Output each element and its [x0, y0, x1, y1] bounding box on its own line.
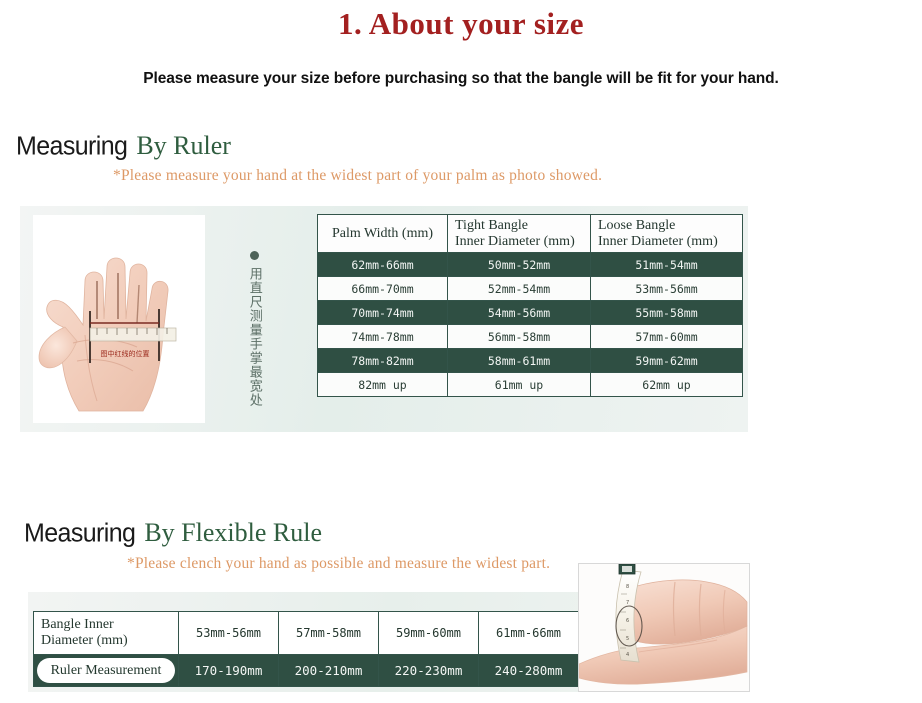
section2-heading-prefix: Measuring	[24, 518, 135, 548]
table1-header-tight-line1: Tight Bangle	[455, 218, 586, 234]
table2-row1-label-line2: Diameter (mm)	[41, 633, 177, 649]
section1-note: *Please measure your hand at the widest …	[113, 167, 602, 185]
table-row: Ruler Measurement 170-190mm 200-210mm 22…	[34, 655, 579, 687]
vertical-chinese-caption: 用直尺测量手掌最宽处	[241, 251, 267, 407]
table1-body: Palm Width (mm) Tight Bangle Inner Diame…	[318, 215, 743, 397]
table1-header-tight-bangle: Tight Bangle Inner Diameter (mm)	[448, 215, 591, 253]
cell-tight-diameter: 50mm-52mm	[448, 253, 591, 277]
section1-heading-prefix: Measuring	[16, 131, 127, 161]
page-title: 1. About your size	[0, 6, 922, 42]
table-row: 74mm-78mm 56mm-58mm 57mm-60mm	[318, 325, 743, 349]
photo-caption-text: 图中红线的位置	[101, 349, 150, 358]
cell-loose-diameter: 53mm-56mm	[591, 277, 743, 301]
cell-palm-width: 82mm up	[318, 373, 448, 397]
table-row: Bangle Inner Diameter (mm) 53mm-56mm 57m…	[34, 612, 579, 655]
page-subtitle: Please measure your size before purchasi…	[0, 70, 922, 88]
table-row: 62mm-66mm 50mm-52mm 51mm-54mm	[318, 253, 743, 277]
cell-bangle-diameter: 61mm-66mm	[479, 612, 579, 655]
cell-bangle-diameter: 59mm-60mm	[379, 612, 479, 655]
palm-hand-illustration: 图中红线的位置	[33, 215, 205, 423]
svg-text:6: 6	[626, 618, 629, 624]
table2-body: Bangle Inner Diameter (mm) 53mm-56mm 57m…	[34, 612, 579, 687]
table1-header-row: Palm Width (mm) Tight Bangle Inner Diame…	[318, 215, 743, 253]
clenched-hand-tape-photo: 8 7 6 5 4	[578, 563, 750, 692]
palm-measure-photo: 图中红线的位置	[33, 215, 205, 423]
cell-tight-diameter: 56mm-58mm	[448, 325, 591, 349]
vertical-caption-text: 用直尺测量手掌最宽处	[246, 267, 262, 407]
table-row: 82mm up 61mm up 62mm up	[318, 373, 743, 397]
clenched-hand-illustration: 8 7 6 5 4	[579, 564, 749, 691]
table1-header-tight-line2: Inner Diameter (mm)	[455, 234, 586, 250]
table-row: 70mm-74mm 54mm-56mm 55mm-58mm	[318, 301, 743, 325]
cell-palm-width: 62mm-66mm	[318, 253, 448, 277]
section2-note: *Please clench your hand as possible and…	[127, 555, 550, 573]
table1-header-palm-width: Palm Width (mm)	[318, 215, 448, 253]
cell-ruler-measurement: 240-280mm	[479, 655, 579, 687]
cell-palm-width: 74mm-78mm	[318, 325, 448, 349]
table2-row2-label: Ruler Measurement	[34, 655, 179, 687]
cell-bangle-diameter: 53mm-56mm	[179, 612, 279, 655]
table1-header-loose-line2: Inner Diameter (mm)	[598, 234, 738, 250]
cell-tight-diameter: 54mm-56mm	[448, 301, 591, 325]
bangle-ruler-measurement-table: Bangle Inner Diameter (mm) 53mm-56mm 57m…	[33, 611, 579, 687]
cell-loose-diameter: 62mm up	[591, 373, 743, 397]
svg-text:8: 8	[626, 584, 629, 590]
section1-heading-rest: By Ruler	[136, 131, 231, 161]
table1-header-loose-line1: Loose Bangle	[598, 218, 738, 234]
section2-heading-rest: By Flexible Rule	[144, 518, 322, 548]
cell-ruler-measurement: 200-210mm	[279, 655, 379, 687]
cell-loose-diameter: 57mm-60mm	[591, 325, 743, 349]
cell-palm-width: 66mm-70mm	[318, 277, 448, 301]
section-heading-ruler: MeasuringBy Ruler	[16, 131, 231, 161]
bullet-dot-icon	[250, 251, 259, 260]
table1-header-loose-bangle: Loose Bangle Inner Diameter (mm)	[591, 215, 743, 253]
table2-row1-label: Bangle Inner Diameter (mm)	[34, 612, 179, 655]
table-row: 78mm-82mm 58mm-61mm 59mm-62mm	[318, 349, 743, 373]
cell-tight-diameter: 52mm-54mm	[448, 277, 591, 301]
table2-row1-label-line1: Bangle Inner	[41, 617, 177, 633]
svg-text:4: 4	[626, 652, 629, 658]
palm-width-size-table: Palm Width (mm) Tight Bangle Inner Diame…	[317, 214, 743, 397]
size-guide-page: 1. About your size Please measure your s…	[0, 0, 922, 703]
cell-palm-width: 78mm-82mm	[318, 349, 448, 373]
table-row: 66mm-70mm 52mm-54mm 53mm-56mm	[318, 277, 743, 301]
cell-bangle-diameter: 57mm-58mm	[279, 612, 379, 655]
svg-text:7: 7	[626, 600, 629, 606]
svg-text:5: 5	[626, 636, 629, 642]
cell-tight-diameter: 58mm-61mm	[448, 349, 591, 373]
cell-loose-diameter: 51mm-54mm	[591, 253, 743, 277]
ruler-measurement-pill: Ruler Measurement	[37, 658, 175, 683]
cell-loose-diameter: 55mm-58mm	[591, 301, 743, 325]
cell-palm-width: 70mm-74mm	[318, 301, 448, 325]
cell-ruler-measurement: 220-230mm	[379, 655, 479, 687]
cell-ruler-measurement: 170-190mm	[179, 655, 279, 687]
section-heading-flexible-rule: MeasuringBy Flexible Rule	[24, 518, 322, 548]
cell-loose-diameter: 59mm-62mm	[591, 349, 743, 373]
cell-tight-diameter: 61mm up	[448, 373, 591, 397]
